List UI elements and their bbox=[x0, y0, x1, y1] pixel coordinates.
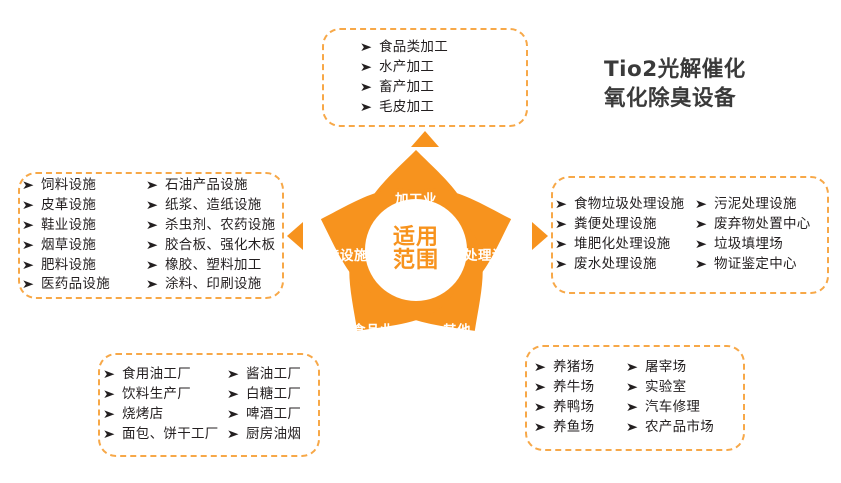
center-label: 适用 范围 bbox=[296, 226, 536, 272]
list-item: ➤废弃物处置中心 bbox=[696, 215, 824, 235]
list-item-label: 医药品设施 bbox=[41, 278, 110, 292]
manufacturing-facilities-box: ➤饲料设施 ➤皮革设施 ➤鞋业设施 ➤烟草设施 ➤肥料设施 ➤医药品设施 ➤石油… bbox=[18, 172, 284, 299]
list-item-label: 胶合板、强化木板 bbox=[165, 239, 275, 253]
list-item: ➤肥料设施 bbox=[23, 255, 147, 275]
list-item-label: 啤酒工厂 bbox=[246, 408, 301, 422]
list-item-label: 饲料设施 bbox=[41, 179, 96, 193]
list-item-label: 堆肥化处理设施 bbox=[574, 238, 671, 252]
list-item: ➤皮革设施 bbox=[23, 196, 147, 216]
arrow-bullet-icon: ➤ bbox=[22, 239, 36, 251]
list-item-label: 烧烤店 bbox=[122, 408, 163, 422]
arrow-bullet-icon: ➤ bbox=[626, 421, 640, 433]
page-title: Tio2光解催化 氧化除臭设备 bbox=[604, 55, 746, 113]
list-item: ➤堆肥化处理设施 bbox=[556, 235, 696, 255]
list-item: ➤食物垃圾处理设施 bbox=[556, 195, 696, 215]
list-item: ➤啤酒工厂 bbox=[228, 405, 314, 425]
list-item-label: 面包、饼干工厂 bbox=[122, 428, 219, 442]
list-item: ➤饮料生产厂 bbox=[104, 385, 228, 405]
arrow-bullet-icon: ➤ bbox=[103, 428, 117, 440]
list-item: ➤废水处理设施 bbox=[556, 255, 696, 275]
list-item-label: 饮料生产厂 bbox=[122, 388, 191, 402]
list-item-label: 食用油工厂 bbox=[122, 368, 191, 382]
arrow-bullet-icon: ➤ bbox=[146, 239, 160, 251]
list-item-label: 毛皮加工 bbox=[379, 101, 434, 115]
list-item-label: 食物垃圾处理设施 bbox=[574, 198, 684, 212]
list-item-label: 食品类加工 bbox=[379, 41, 448, 55]
list-item-label: 石油产品设施 bbox=[165, 179, 248, 193]
box-columns: ➤食用油工厂 ➤饮料生产厂 ➤烧烤店 ➤面包、饼干工厂 ➤酱油工厂 ➤白糖工厂 … bbox=[104, 365, 314, 445]
arrow-bullet-icon: ➤ bbox=[227, 408, 241, 420]
box-column: ➤屠宰场 ➤实验室 ➤汽车修理 ➤农产品市场 bbox=[627, 358, 735, 438]
list-item-label: 养牛场 bbox=[553, 381, 594, 395]
list-item-label: 汽车修理 bbox=[645, 401, 700, 415]
list-item: ➤养鸭场 bbox=[535, 398, 627, 418]
title-line-1: Tio2光解催化 bbox=[604, 55, 746, 84]
arrow-bullet-icon: ➤ bbox=[695, 238, 709, 250]
list-item-label: 水产加工 bbox=[379, 61, 434, 75]
center-label-line-2: 范围 bbox=[296, 249, 536, 272]
list-item: ➤橡胶、塑料加工 bbox=[147, 255, 279, 275]
list-item: ➤烧烤店 bbox=[104, 405, 228, 425]
list-item: ➤酱油工厂 bbox=[228, 365, 314, 385]
arrow-bullet-icon: ➤ bbox=[146, 179, 160, 191]
list-item: ➤汽车修理 bbox=[627, 398, 735, 418]
list-item: ➤养鱼场 bbox=[535, 418, 627, 438]
list-item: ➤水产加工 bbox=[361, 58, 489, 78]
center-label-line-1: 适用 bbox=[296, 226, 536, 249]
arrow-bullet-icon: ➤ bbox=[22, 259, 36, 271]
arrow-bullet-icon: ➤ bbox=[695, 218, 709, 230]
list-item: ➤饲料设施 bbox=[23, 176, 147, 196]
arrow-bullet-icon: ➤ bbox=[555, 198, 569, 210]
list-item-label: 屠宰场 bbox=[645, 361, 686, 375]
list-item-label: 粪便处理设施 bbox=[574, 218, 657, 232]
arrow-bullet-icon: ➤ bbox=[626, 361, 640, 373]
list-item-label: 养猪场 bbox=[553, 361, 594, 375]
box-column: ➤食物垃圾处理设施 ➤粪便处理设施 ➤堆肥化处理设施 ➤废水处理设施 bbox=[556, 195, 696, 275]
processing-industry-box: ➤食品类加工 ➤水产加工 ➤畜产加工 ➤毛皮加工 bbox=[322, 28, 528, 127]
list-item-label: 物证鉴定中心 bbox=[714, 258, 797, 272]
list-item: ➤养牛场 bbox=[535, 378, 627, 398]
list-item: ➤畜产加工 bbox=[361, 78, 489, 98]
list-item-label: 烟草设施 bbox=[41, 239, 96, 253]
arrow-bullet-icon: ➤ bbox=[534, 421, 548, 433]
list-item-label: 酱油工厂 bbox=[246, 368, 301, 382]
arrow-bullet-icon: ➤ bbox=[555, 258, 569, 270]
arrow-bullet-icon: ➤ bbox=[227, 388, 241, 400]
arrow-bullet-icon: ➤ bbox=[146, 259, 160, 271]
arrow-bullet-icon: ➤ bbox=[227, 368, 241, 380]
list-item: ➤白糖工厂 bbox=[228, 385, 314, 405]
list-item-label: 农产品市场 bbox=[645, 421, 714, 435]
list-item: ➤食用油工厂 bbox=[104, 365, 228, 385]
arrow-bullet-icon: ➤ bbox=[555, 238, 569, 250]
arrow-bullet-icon: ➤ bbox=[146, 219, 160, 231]
list-item-label: 皮革设施 bbox=[41, 199, 96, 213]
flower-diagram: 加工业 处理设施 其他 食品业 制造设施 适用 范围 bbox=[296, 146, 536, 354]
arrow-bullet-icon: ➤ bbox=[227, 428, 241, 440]
list-item: ➤胶合板、强化木板 bbox=[147, 236, 279, 256]
arrow-bullet-icon: ➤ bbox=[695, 258, 709, 270]
list-item-label: 实验室 bbox=[645, 381, 686, 395]
list-item: ➤粪便处理设施 bbox=[556, 215, 696, 235]
arrow-bullet-icon: ➤ bbox=[146, 278, 160, 290]
list-item-label: 废弃物处置中心 bbox=[714, 218, 811, 232]
other-box: ➤养猪场 ➤养牛场 ➤养鸭场 ➤养鱼场 ➤屠宰场 ➤实验室 ➤汽车修理 ➤农产品… bbox=[525, 345, 745, 451]
petal-label-bottom-left: 食品业 bbox=[338, 319, 408, 339]
list-item: ➤面包、饼干工厂 bbox=[104, 425, 228, 445]
box-columns: ➤饲料设施 ➤皮革设施 ➤鞋业设施 ➤烟草设施 ➤肥料设施 ➤医药品设施 ➤石油… bbox=[23, 176, 279, 295]
arrow-bullet-icon: ➤ bbox=[360, 101, 374, 113]
list-item-label: 杀虫剂、农药设施 bbox=[165, 219, 275, 233]
list-item-label: 养鸭场 bbox=[553, 401, 594, 415]
box-column: ➤饲料设施 ➤皮革设施 ➤鞋业设施 ➤烟草设施 ➤肥料设施 ➤医药品设施 bbox=[23, 176, 147, 295]
list-item-label: 纸浆、造纸设施 bbox=[165, 199, 262, 213]
arrow-bullet-icon: ➤ bbox=[360, 41, 374, 53]
list-item-label: 垃圾填埋场 bbox=[714, 238, 783, 252]
arrow-bullet-icon: ➤ bbox=[534, 381, 548, 393]
arrow-bullet-icon: ➤ bbox=[626, 381, 640, 393]
arrow-bullet-icon: ➤ bbox=[534, 361, 548, 373]
list-item: ➤涂料、印刷设施 bbox=[147, 275, 279, 295]
arrow-bullet-icon: ➤ bbox=[103, 368, 117, 380]
list-item-label: 养鱼场 bbox=[553, 421, 594, 435]
box-column: ➤酱油工厂 ➤白糖工厂 ➤啤酒工厂 ➤厨房油烟 bbox=[228, 365, 314, 445]
list-item: ➤农产品市场 bbox=[627, 418, 735, 438]
arrow-bullet-icon: ➤ bbox=[22, 278, 36, 290]
arrow-bullet-icon: ➤ bbox=[103, 388, 117, 400]
title-line-2: 氧化除臭设备 bbox=[604, 84, 746, 113]
box-columns: ➤养猪场 ➤养牛场 ➤养鸭场 ➤养鱼场 ➤屠宰场 ➤实验室 ➤汽车修理 ➤农产品… bbox=[535, 358, 735, 438]
box-columns: ➤食品类加工 ➤水产加工 ➤畜产加工 ➤毛皮加工 bbox=[361, 38, 489, 118]
food-industry-box: ➤食用油工厂 ➤饮料生产厂 ➤烧烤店 ➤面包、饼干工厂 ➤酱油工厂 ➤白糖工厂 … bbox=[98, 353, 320, 457]
box-column: ➤石油产品设施 ➤纸浆、造纸设施 ➤杀虫剂、农药设施 ➤胶合板、强化木板 ➤橡胶… bbox=[147, 176, 279, 295]
arrow-bullet-icon: ➤ bbox=[103, 408, 117, 420]
list-item-label: 橡胶、塑料加工 bbox=[165, 259, 262, 273]
connector-arrow-top-icon bbox=[411, 131, 439, 147]
list-item: ➤实验室 bbox=[627, 378, 735, 398]
list-item-label: 白糖工厂 bbox=[246, 388, 301, 402]
list-item: ➤垃圾填埋场 bbox=[696, 235, 824, 255]
arrow-bullet-icon: ➤ bbox=[22, 219, 36, 231]
list-item: ➤污泥处理设施 bbox=[696, 195, 824, 215]
infographic-canvas: Tio2光解催化 氧化除臭设备 ➤食品类加工 ➤水产加工 ➤畜产加工 ➤毛皮加工… bbox=[0, 0, 841, 483]
treatment-facilities-box: ➤食物垃圾处理设施 ➤粪便处理设施 ➤堆肥化处理设施 ➤废水处理设施 ➤污泥处理… bbox=[551, 176, 829, 294]
arrow-bullet-icon: ➤ bbox=[695, 198, 709, 210]
list-item: ➤厨房油烟 bbox=[228, 425, 314, 445]
list-item: ➤屠宰场 bbox=[627, 358, 735, 378]
list-item-label: 涂料、印刷设施 bbox=[165, 278, 262, 292]
list-item-label: 畜产加工 bbox=[379, 81, 434, 95]
petal-label-bottom-right: 其他 bbox=[426, 319, 488, 339]
list-item: ➤毛皮加工 bbox=[361, 97, 489, 117]
list-item: ➤纸浆、造纸设施 bbox=[147, 196, 279, 216]
arrow-bullet-icon: ➤ bbox=[360, 81, 374, 93]
list-item-label: 鞋业设施 bbox=[41, 219, 96, 233]
arrow-bullet-icon: ➤ bbox=[146, 199, 160, 211]
arrow-bullet-icon: ➤ bbox=[534, 401, 548, 413]
box-column: ➤食用油工厂 ➤饮料生产厂 ➤烧烤店 ➤面包、饼干工厂 bbox=[104, 365, 228, 445]
list-item: ➤烟草设施 bbox=[23, 236, 147, 256]
arrow-bullet-icon: ➤ bbox=[22, 199, 36, 211]
list-item-label: 厨房油烟 bbox=[246, 428, 301, 442]
arrow-bullet-icon: ➤ bbox=[22, 179, 36, 191]
list-item: ➤物证鉴定中心 bbox=[696, 255, 824, 275]
arrow-bullet-icon: ➤ bbox=[360, 61, 374, 73]
list-item: ➤医药品设施 bbox=[23, 275, 147, 295]
list-item: ➤石油产品设施 bbox=[147, 176, 279, 196]
box-column: ➤污泥处理设施 ➤废弃物处置中心 ➤垃圾填埋场 ➤物证鉴定中心 bbox=[696, 195, 824, 275]
list-item: ➤鞋业设施 bbox=[23, 216, 147, 236]
petal-label-top: 加工业 bbox=[296, 188, 536, 208]
list-item: ➤杀虫剂、农药设施 bbox=[147, 216, 279, 236]
list-item: ➤食品类加工 bbox=[361, 38, 489, 58]
list-item-label: 肥料设施 bbox=[41, 259, 96, 273]
box-columns: ➤食物垃圾处理设施 ➤粪便处理设施 ➤堆肥化处理设施 ➤废水处理设施 ➤污泥处理… bbox=[556, 195, 824, 275]
arrow-bullet-icon: ➤ bbox=[626, 401, 640, 413]
list-item: ➤养猪场 bbox=[535, 358, 627, 378]
arrow-bullet-icon: ➤ bbox=[555, 218, 569, 230]
list-item-label: 废水处理设施 bbox=[574, 258, 657, 272]
box-column: ➤食品类加工 ➤水产加工 ➤畜产加工 ➤毛皮加工 bbox=[361, 38, 489, 118]
box-column: ➤养猪场 ➤养牛场 ➤养鸭场 ➤养鱼场 bbox=[535, 358, 627, 438]
list-item-label: 污泥处理设施 bbox=[714, 198, 797, 212]
